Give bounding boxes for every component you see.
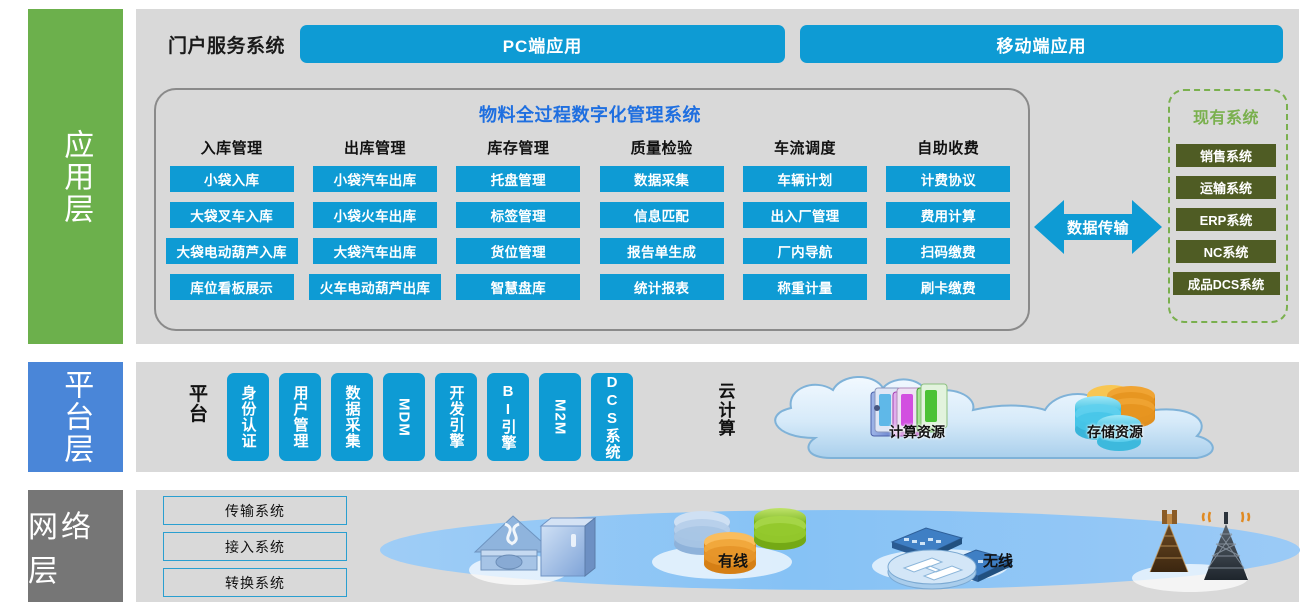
module-tile[interactable]: 厂内导航: [743, 238, 867, 264]
module-tile[interactable]: 库位看板展示: [170, 274, 294, 300]
existing-system-item[interactable]: 运输系统: [1176, 176, 1276, 199]
existing-system-item[interactable]: 成品DCS系统: [1173, 272, 1280, 295]
column-header: 入库管理: [201, 137, 263, 158]
network-system-tile[interactable]: 传输系统: [163, 496, 347, 525]
portal-pc-app-button[interactable]: PC端应用: [300, 25, 785, 63]
compute-resource-label: 计算资源: [889, 422, 945, 442]
storage-resource-label: 存储资源: [1087, 422, 1143, 442]
platform-tile-label: 身份认证: [241, 385, 256, 449]
platform-tile[interactable]: M2M: [539, 373, 581, 461]
existing-system-item[interactable]: 销售系统: [1176, 144, 1276, 167]
portal-service-title: 门户服务系统: [168, 31, 285, 58]
network-system-tile[interactable]: 接入系统: [163, 532, 347, 561]
platform-tile[interactable]: 用户管理: [279, 373, 321, 461]
platform-tile[interactable]: 开发引擎: [435, 373, 477, 461]
platform-tile[interactable]: 数据采集: [331, 373, 373, 461]
application-modules-grid: 入库管理 小袋入库 大袋叉车入库 大袋电动葫芦入库 库位看板展示 出库管理 小袋…: [160, 137, 1020, 310]
data-transfer-arrow: 数据传输: [1034, 196, 1162, 258]
platform-tile-label: 用户管理: [293, 385, 308, 449]
module-tile[interactable]: 扫码缴费: [886, 238, 1010, 264]
network-system-tile[interactable]: 转换系统: [163, 568, 347, 597]
platform-tile[interactable]: MDM: [383, 373, 425, 461]
platform-tile-label: 数据采集: [345, 385, 360, 449]
network-systems-list: 传输系统 接入系统 转换系统: [163, 496, 347, 597]
architecture-diagram: 应用层 平台层 网络层 门户服务系统 PC端应用 移动端应用 物料全过程数字化管…: [0, 0, 1313, 613]
module-tile[interactable]: 计费协议: [886, 166, 1010, 192]
layer-label-network: 网络层: [28, 490, 123, 602]
platform-capability-list: 身份认证 用户管理 数据采集 MDM 开发引擎 BI引擎 M2M DCS系统: [227, 373, 633, 461]
layer-label-network-text: 网络层: [28, 502, 123, 590]
network-illustration: [380, 500, 1300, 600]
layer-label-platform-text: 平台层: [59, 369, 93, 465]
platform-tile[interactable]: BI引擎: [487, 373, 529, 461]
module-tile[interactable]: 火车电动葫芦出库: [309, 274, 441, 300]
module-column-selfservice: 自助收费 计费协议 费用计算 扫码缴费 刷卡缴费: [877, 137, 1020, 310]
platform-tile-label: M2M: [553, 399, 568, 435]
column-header: 车流调度: [774, 137, 836, 158]
module-tile[interactable]: 信息匹配: [600, 202, 724, 228]
module-tile[interactable]: 报告单生成: [600, 238, 724, 264]
platform-word-label: 平台: [182, 385, 216, 425]
module-tile[interactable]: 大袋汽车出库: [313, 238, 437, 264]
module-tile[interactable]: 小袋火车出库: [313, 202, 437, 228]
layer-label-platform: 平台层: [28, 362, 123, 472]
module-tile[interactable]: 大袋叉车入库: [170, 202, 294, 228]
module-tile[interactable]: 刷卡缴费: [886, 274, 1010, 300]
data-transfer-label: 数据传输: [1034, 196, 1162, 258]
wired-label: 有线: [718, 550, 748, 571]
module-tile[interactable]: 称重计量: [743, 274, 867, 300]
module-column-inventory: 库存管理 托盘管理 标签管理 货位管理 智慧盘库: [447, 137, 590, 310]
existing-system-item[interactable]: ERP系统: [1176, 208, 1276, 231]
platform-tile-label: DCS系统: [605, 374, 620, 460]
platform-tile[interactable]: 身份认证: [227, 373, 269, 461]
column-header: 自助收费: [917, 137, 979, 158]
layer-label-application: 应用层: [28, 9, 123, 344]
column-header: 库存管理: [487, 137, 549, 158]
module-tile[interactable]: 车辆计划: [743, 166, 867, 192]
existing-system-item[interactable]: NC系统: [1176, 240, 1276, 263]
existing-systems-list: 销售系统 运输系统 ERP系统 NC系统 成品DCS系统: [1172, 144, 1280, 304]
material-system-title: 物料全过程数字化管理系统: [154, 101, 1026, 127]
module-tile[interactable]: 大袋电动葫芦入库: [166, 238, 298, 264]
wireless-label: 无线: [983, 550, 1013, 571]
platform-tile-label: MDM: [397, 398, 412, 437]
module-column-outbound: 出库管理 小袋汽车出库 小袋火车出库 大袋汽车出库 火车电动葫芦出库: [303, 137, 446, 310]
cloud-illustration: [745, 366, 1290, 466]
module-tile[interactable]: 统计报表: [600, 274, 724, 300]
module-tile[interactable]: 小袋汽车出库: [313, 166, 437, 192]
module-column-inbound: 入库管理 小袋入库 大袋叉车入库 大袋电动葫芦入库 库位看板展示: [160, 137, 303, 310]
module-tile[interactable]: 托盘管理: [456, 166, 580, 192]
platform-tile-label: 开发引擎: [449, 385, 464, 449]
column-header: 出库管理: [344, 137, 406, 158]
module-tile[interactable]: 智慧盘库: [456, 274, 580, 300]
module-column-traffic: 车流调度 车辆计划 出入厂管理 厂内导航 称重计量: [733, 137, 876, 310]
portal-mobile-app-button[interactable]: 移动端应用: [800, 25, 1283, 63]
column-header: 质量检验: [631, 137, 693, 158]
existing-systems-title: 现有系统: [1168, 104, 1284, 128]
module-tile[interactable]: 货位管理: [456, 238, 580, 264]
module-column-quality: 质量检验 数据采集 信息匹配 报告单生成 统计报表: [590, 137, 733, 310]
module-tile[interactable]: 标签管理: [456, 202, 580, 228]
cloud-computing-label: 云计算: [715, 383, 739, 439]
module-tile[interactable]: 费用计算: [886, 202, 1010, 228]
platform-tile-label: BI引擎: [501, 383, 516, 451]
module-tile[interactable]: 小袋入库: [170, 166, 294, 192]
module-tile[interactable]: 出入厂管理: [743, 202, 867, 228]
module-tile[interactable]: 数据采集: [600, 166, 724, 192]
layer-label-application-text: 应用层: [59, 129, 93, 225]
platform-tile[interactable]: DCS系统: [591, 373, 633, 461]
